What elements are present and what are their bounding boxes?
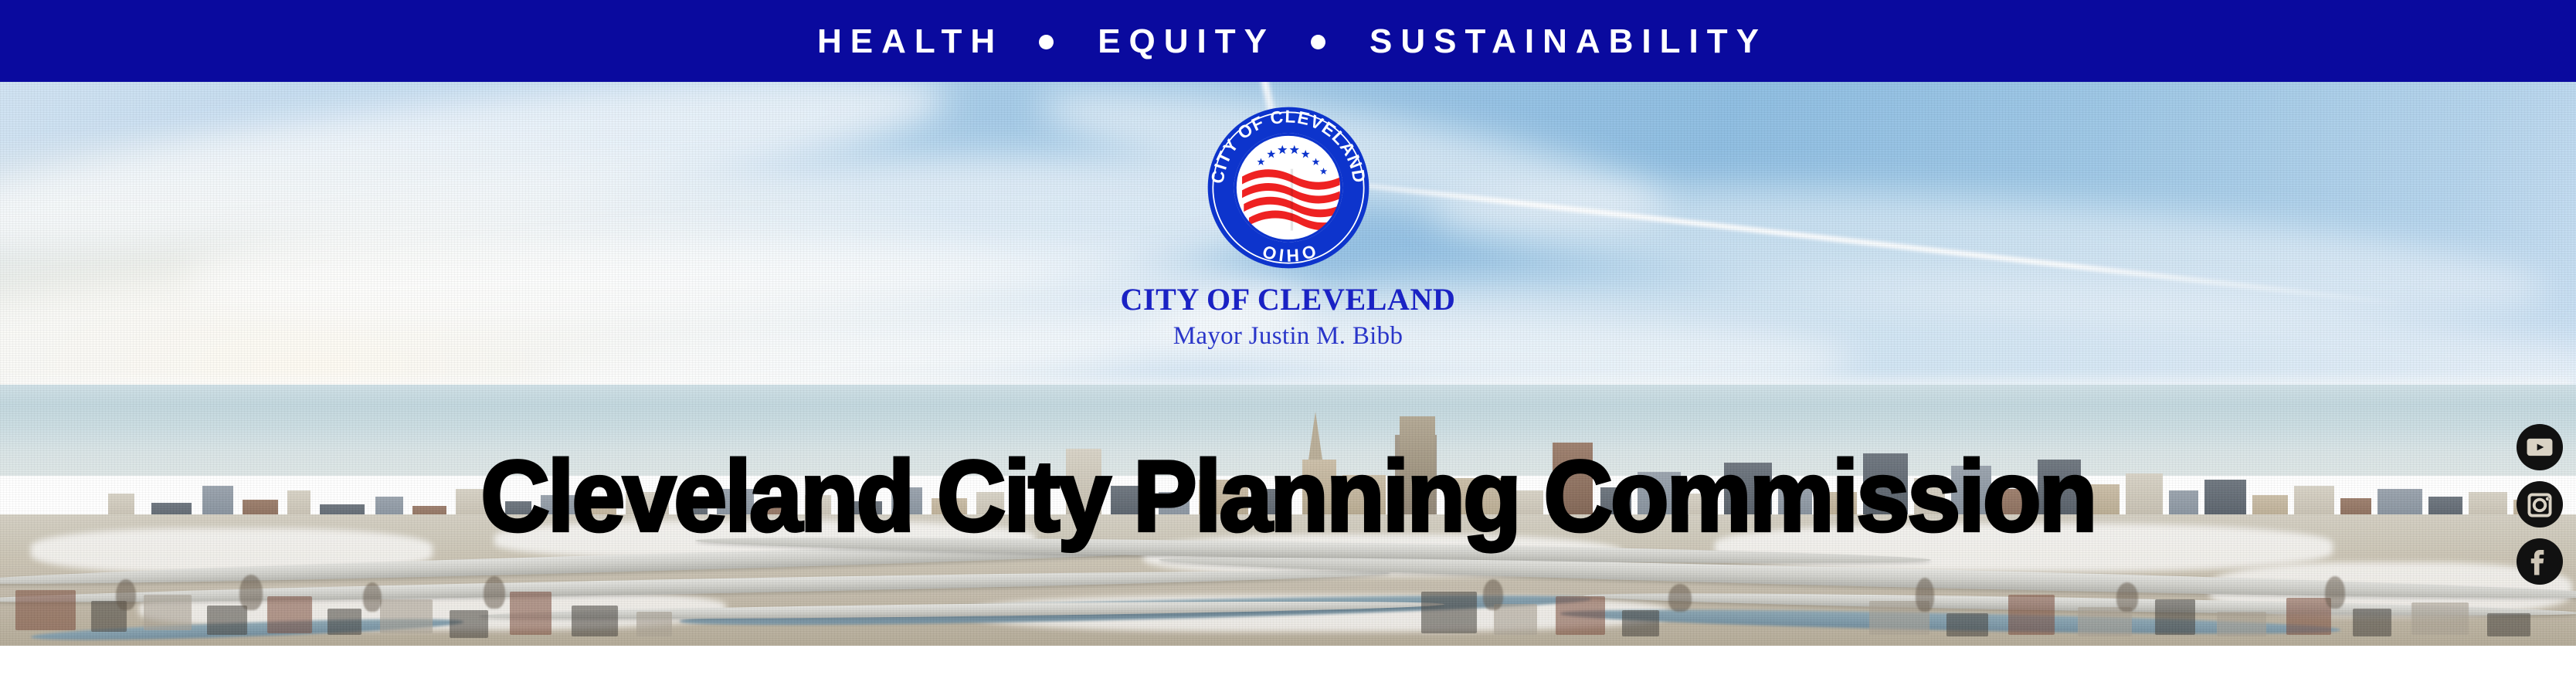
city-name-label: CITY OF CLEVELAND bbox=[1121, 284, 1456, 315]
city-logo-block: CITY OF CLEVELAND OHIO bbox=[1026, 102, 1551, 349]
page-title: Cleveland City Planning Commission bbox=[0, 446, 2576, 547]
page-root: HEALTH EQUITY SUSTAINABILITY bbox=[0, 0, 2576, 682]
tagline-banner: HEALTH EQUITY SUSTAINABILITY bbox=[0, 0, 2576, 82]
page-bottom-whitespace bbox=[0, 646, 2576, 682]
facebook-icon[interactable] bbox=[2516, 538, 2564, 585]
youtube-icon[interactable] bbox=[2516, 423, 2564, 471]
city-of-cleveland-seal-icon: CITY OF CLEVELAND OHIO bbox=[1203, 102, 1374, 273]
social-links bbox=[2516, 423, 2564, 585]
bullet-dot-icon bbox=[1039, 35, 1054, 49]
tagline-word-equity: EQUITY bbox=[1089, 25, 1275, 59]
tagline-word-sustainability: SUSTAINABILITY bbox=[1361, 25, 1767, 59]
mayor-name-label: Mayor Justin M. Bibb bbox=[1173, 324, 1403, 349]
tagline-banner-inner: HEALTH EQUITY SUSTAINABILITY bbox=[809, 25, 1767, 59]
instagram-icon[interactable] bbox=[2516, 480, 2564, 528]
bullet-dot-icon bbox=[1311, 35, 1325, 49]
tagline-word-health: HEALTH bbox=[809, 25, 1003, 59]
